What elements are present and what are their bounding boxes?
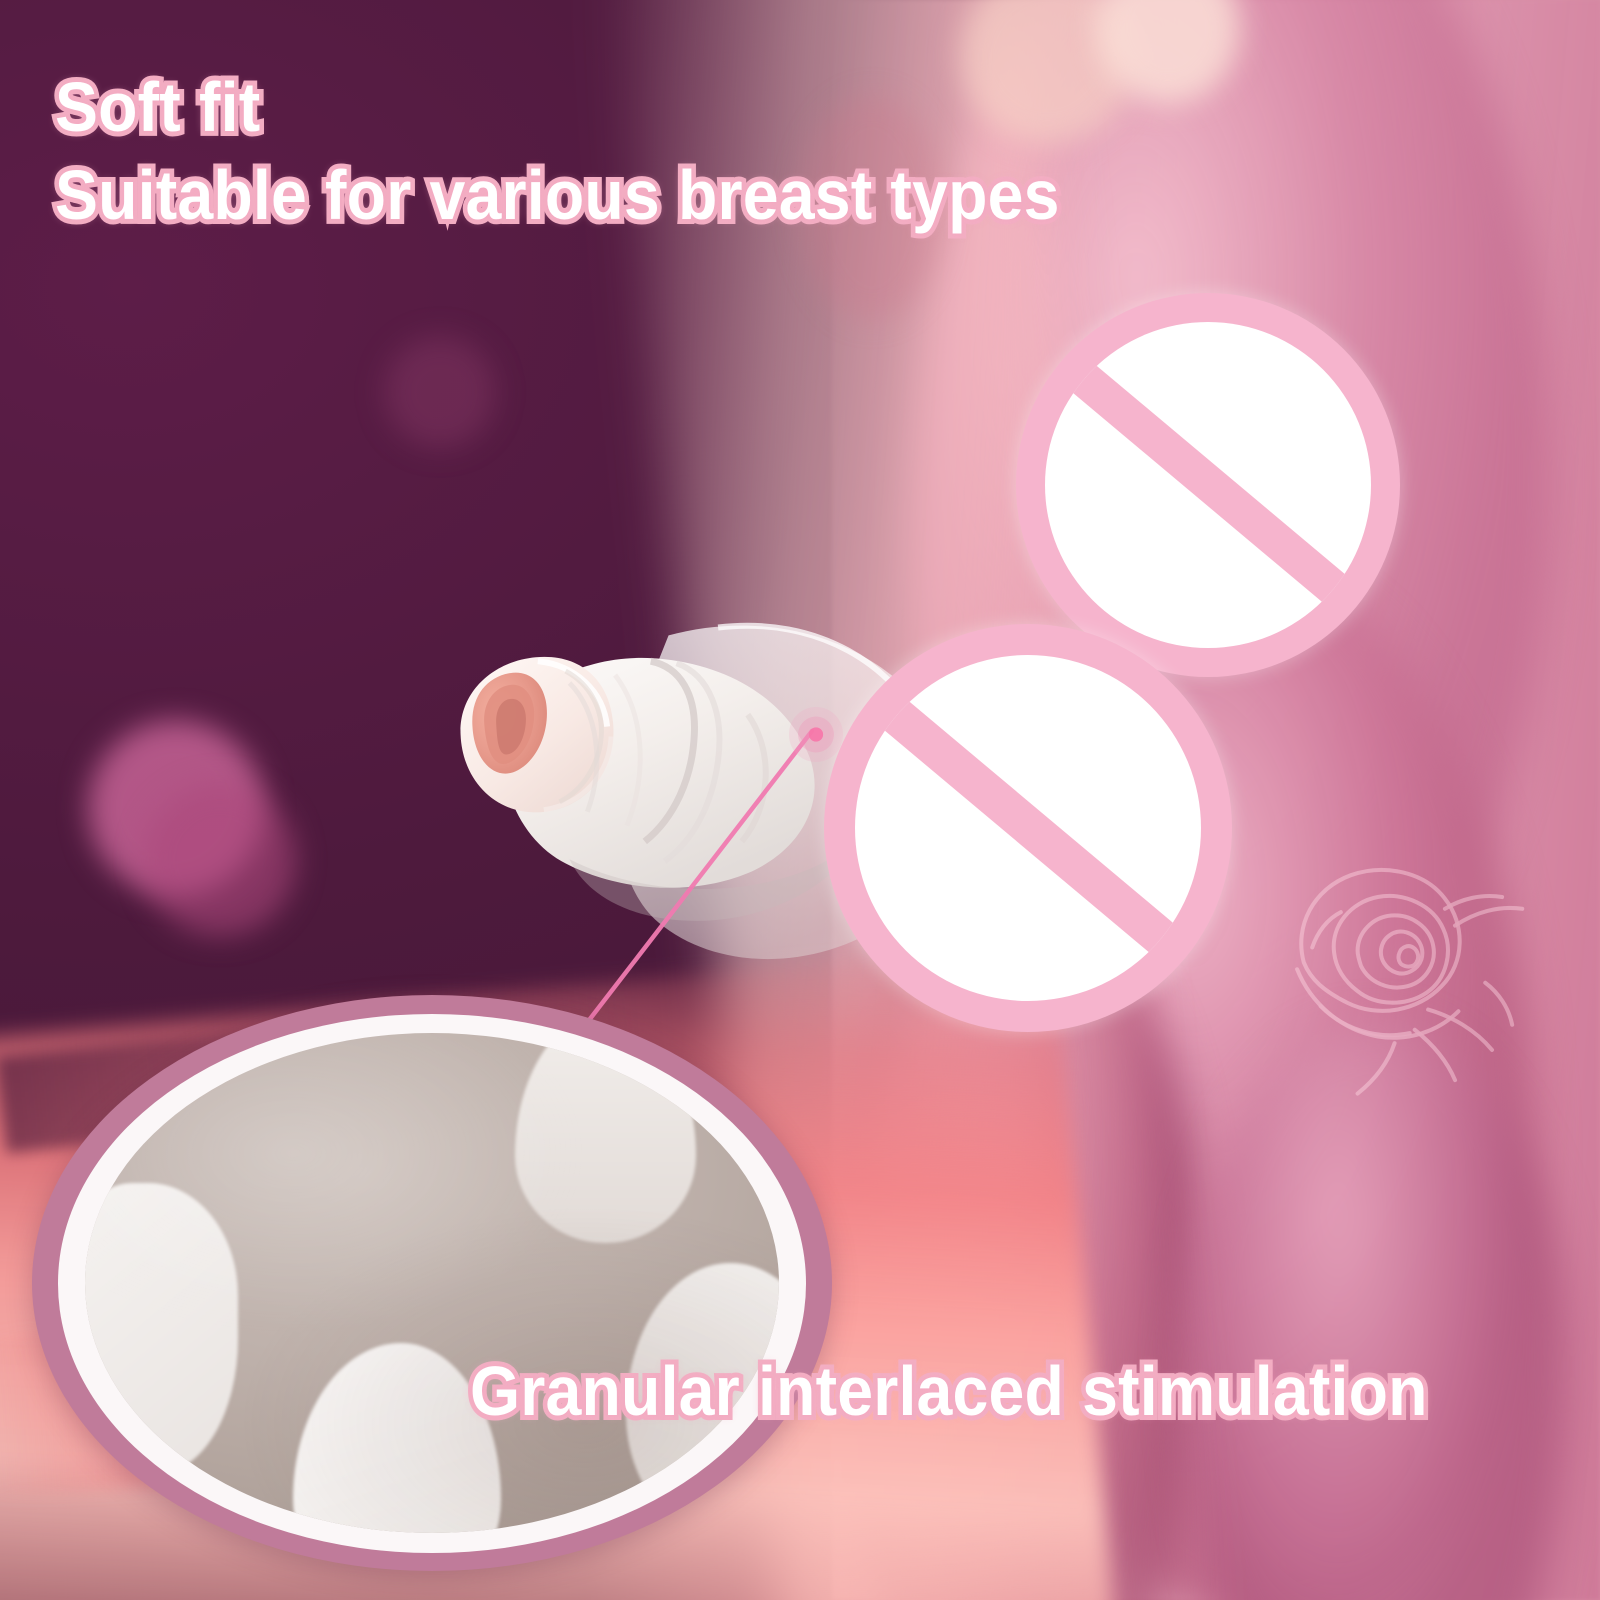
censor-badge-upper [1016,293,1400,677]
headline-line-1: Soft fit [55,72,260,142]
no-entry-icon-bar [1045,339,1371,627]
headline-line-2: Suitable for various breast types [55,160,1060,230]
no-entry-icon-bar [855,673,1202,979]
censor-badge-lower [824,624,1232,1032]
bottom-caption: Granular interlaced stimulation [470,1356,1428,1426]
detail-inset-photo [85,1033,779,1533]
device-hotspot-marker [789,707,843,761]
no-entry-icon-field [855,655,1202,1002]
no-entry-icon-field [1045,322,1371,648]
detail-inset-shading [85,1033,779,1533]
ad-banner: Soft fit Suitable for various breast typ… [0,0,1600,1600]
detail-inset-circle [32,995,832,1571]
